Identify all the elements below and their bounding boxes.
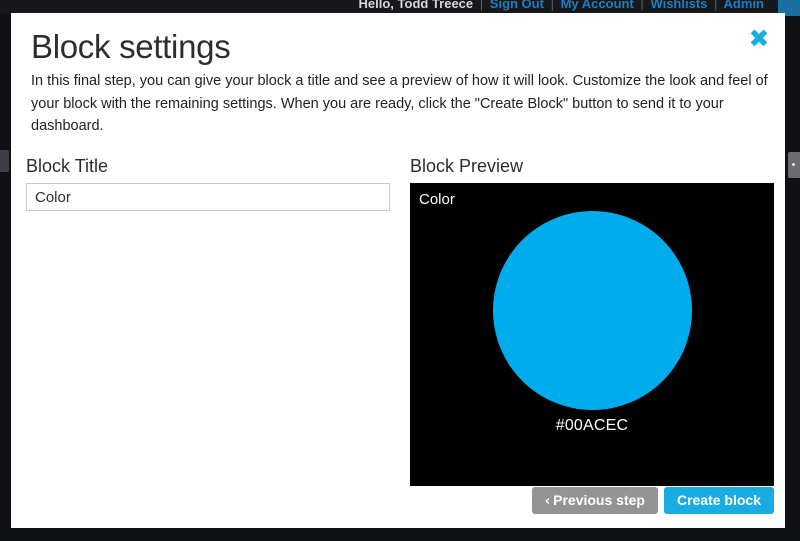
modal-description: In this final step, you can give your bl… [31,70,771,138]
top-nav-links: Hello, Todd Treece | Sign Out | My Accou… [359,0,764,10]
side-tab-dot-icon [792,163,795,166]
block-settings-modal: ✖ Block settings In this final step, you… [11,13,785,528]
block-title-label: Block Title [26,155,406,177]
nav-separator-1: | [477,0,486,11]
block-preview-column: Block Preview Color #00ACEC [410,155,774,486]
chevron-left-icon: ‹ [545,494,553,509]
preview-hex-value: #00ACEC [410,415,774,437]
page-side-tab[interactable] [788,152,800,178]
nav-link-admin[interactable]: Admin [724,0,764,11]
block-preview-label: Block Preview [410,155,774,177]
close-icon[interactable]: ✖ [746,26,772,52]
modal-footer: ‹Previous stepCreate block [11,487,785,528]
nav-link-my-account[interactable]: My Account [561,0,634,11]
nav-greeting: Hello, Todd Treece [359,0,474,11]
nav-link-sign-out[interactable]: Sign Out [490,0,544,11]
page-left-edge-marker [0,150,9,172]
color-swatch-circle [493,211,692,410]
create-block-label: Create block [677,492,761,508]
nav-separator-2: | [548,0,557,11]
modal-title: Block settings [31,27,230,67]
block-preview-panel: Color #00ACEC [410,183,774,486]
nav-separator-3: | [637,0,646,11]
nav-separator-4: | [711,0,720,11]
block-title-column: Block Title [26,155,406,211]
nav-link-wishlists[interactable]: Wishlists [650,0,707,11]
preview-block-heading: Color [419,191,455,209]
create-block-button[interactable]: Create block [664,487,774,514]
previous-step-button[interactable]: ‹Previous step [532,487,658,514]
block-title-input[interactable] [26,183,390,211]
previous-step-label: Previous step [553,492,645,508]
top-navigation-bar: Hello, Todd Treece | Sign Out | My Accou… [0,0,800,13]
